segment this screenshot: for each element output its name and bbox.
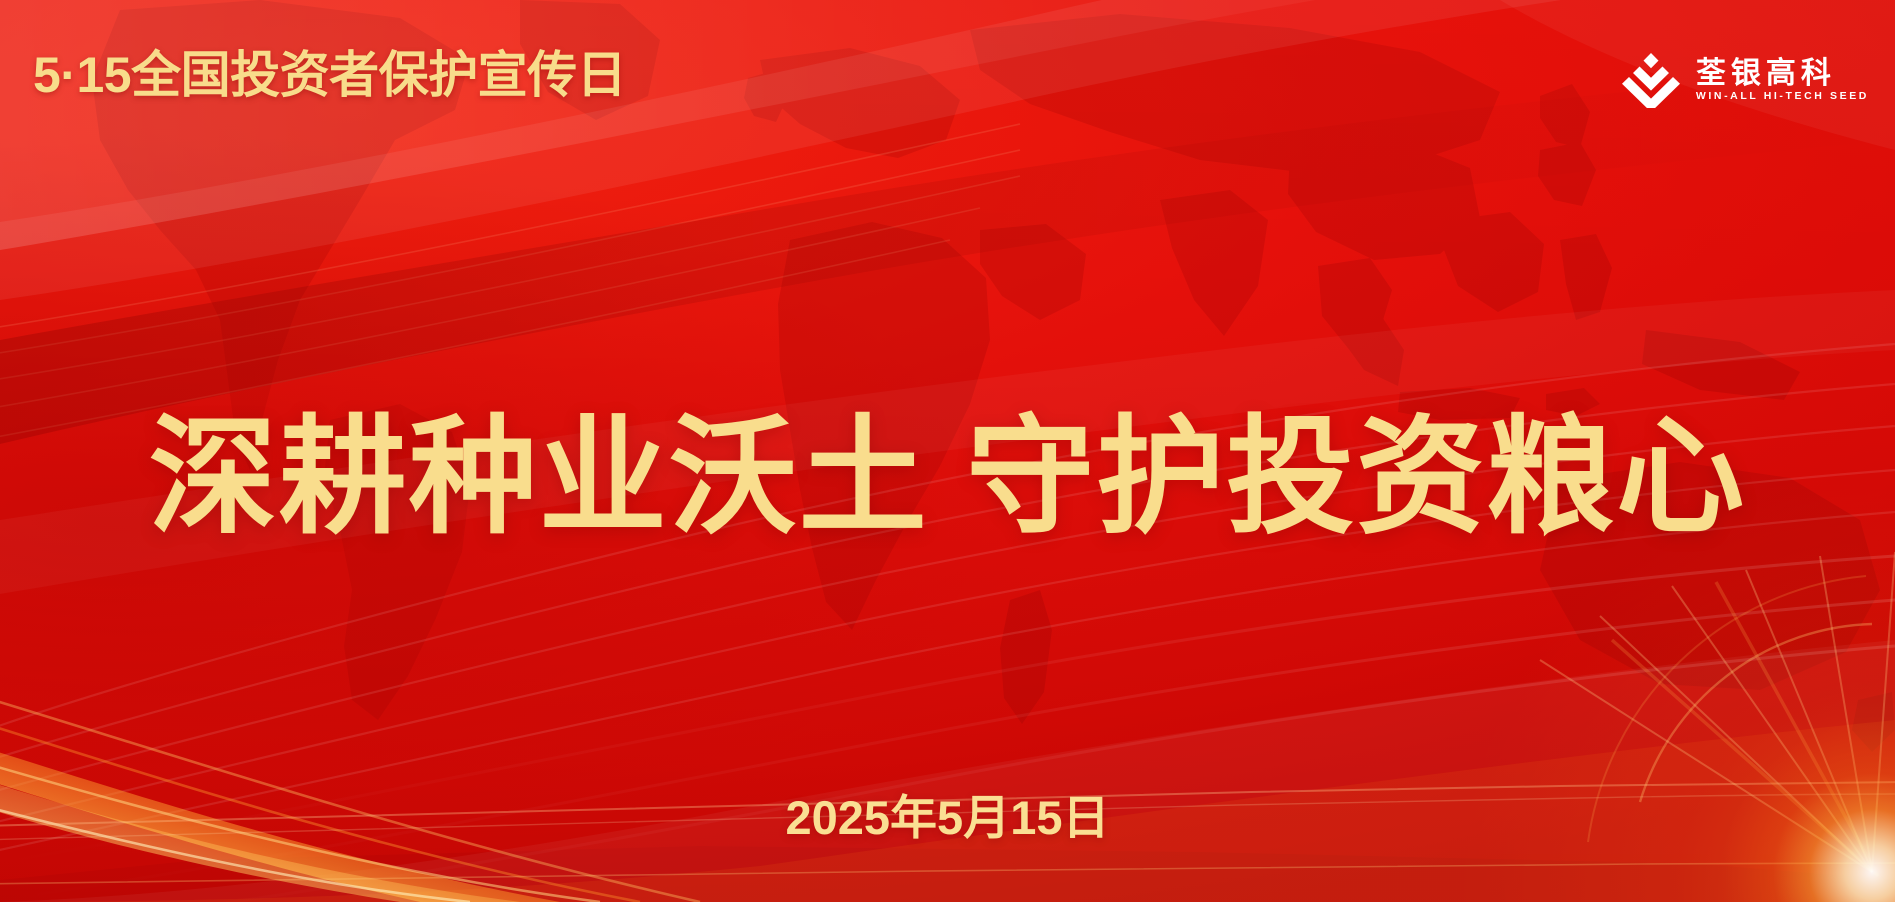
company-logo[interactable]: 荃银高科 WIN-ALL HI-TECH SEED (1622, 52, 1869, 108)
logo-company-name-en: WIN-ALL HI-TECH SEED (1696, 91, 1869, 102)
logo-company-name-cn: 荃银高科 (1696, 59, 1869, 89)
main-slogan: 深耕种业沃土 守护投资粮心 (0, 404, 1895, 552)
promotional-banner: 5·15全国投资者保护宣传日 荃银高科 WIN-ALL HI-TECH SEED… (0, 0, 1895, 902)
win-all-chevron-mark-icon (1622, 52, 1680, 108)
logo-wordmark: 荃银高科 WIN-ALL HI-TECH SEED (1696, 59, 1869, 102)
event-date: 2025年5月15日 (0, 794, 1895, 841)
campaign-header-title: 5·15全国投资者保护宣传日 (33, 50, 626, 100)
